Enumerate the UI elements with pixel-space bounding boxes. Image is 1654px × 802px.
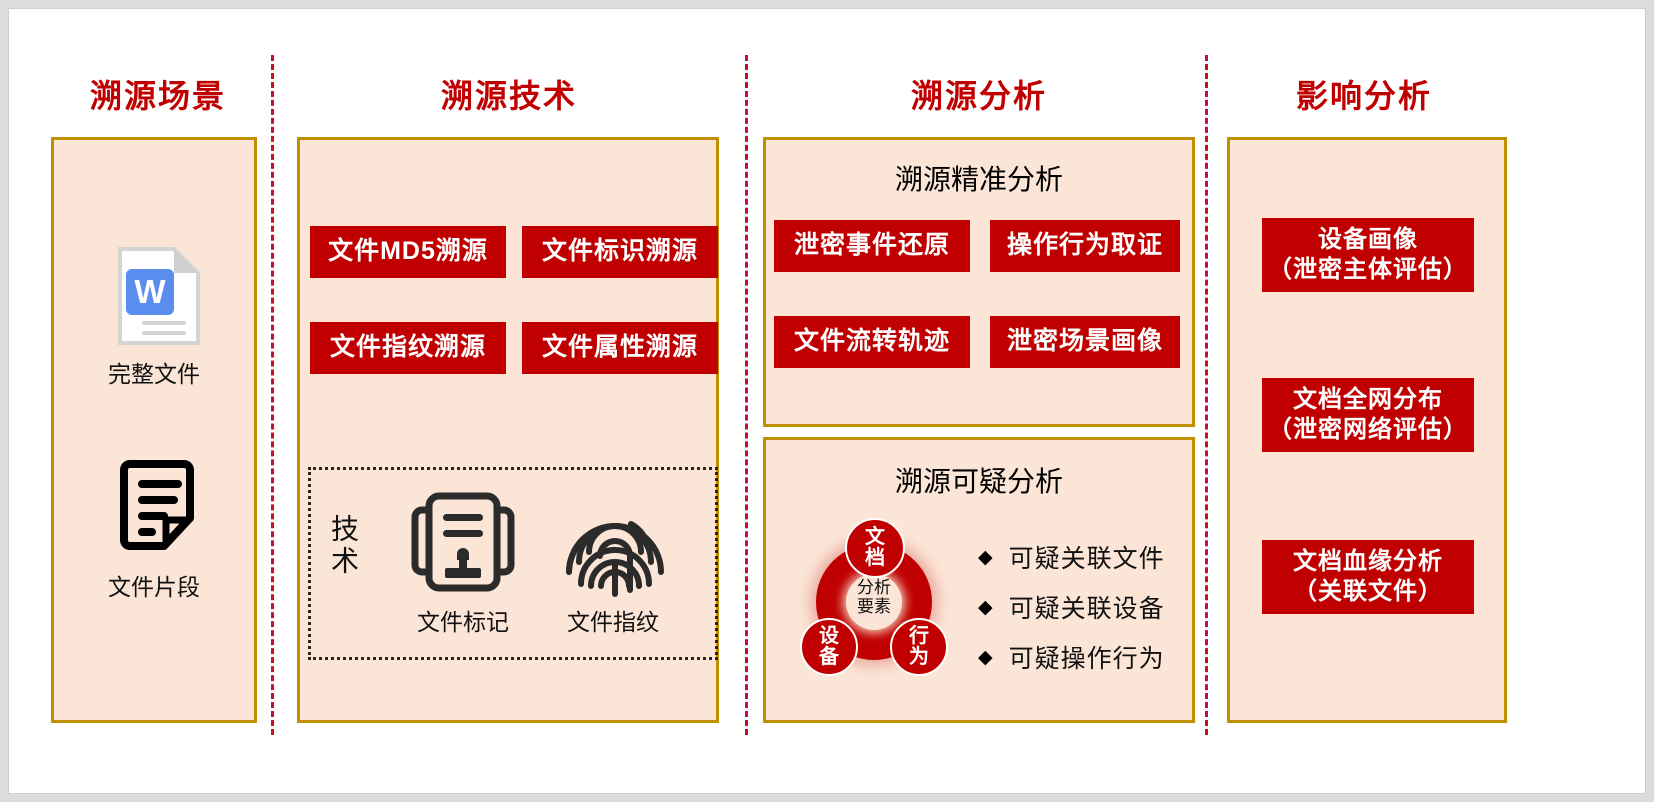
list-item: ◆ 可疑操作行为 [978,638,1165,676]
donut-center-label: 分析 要素 [846,578,902,616]
donut-node-behavior: 行 为 [890,618,948,676]
analysis-elements-donut: 分析 要素 文 档 设 备 行 为 [794,522,954,682]
separator-1 [271,55,274,735]
suspicious-bullet-0: 可疑关联文件 [1009,539,1165,575]
tech-chip-0[interactable]: 文件MD5溯源 [310,226,506,278]
precise-chip-2[interactable]: 文件流转轨迹 [774,316,970,368]
scene-item-label-0: 完整文件 [54,355,254,389]
list-item: ◆ 可疑关联文件 [978,538,1165,576]
fingerprint-icon [559,486,671,603]
svg-text:W: W [134,273,166,310]
separator-2 [745,55,748,735]
document-fragment-icon [116,460,198,557]
column-title-technology: 溯源技术 [299,71,719,117]
precise-chip-3[interactable]: 泄密场景画像 [990,316,1180,368]
impact-chip-1[interactable]: 文档全网分布 （泄密网络评估） [1262,378,1474,452]
separator-3 [1205,55,1208,735]
diagram-canvas: 溯源场景 溯源技术 溯源分析 影响分析 W 完整文件 [8,8,1646,794]
panel-suspicious-analysis: 溯源可疑分析 分析 要素 文 档 设 备 行 为 ◆ 可疑关联文件 ◆ 可疑关联… [763,437,1195,723]
list-item: ◆ 可疑关联设备 [978,588,1165,626]
panel-impact: 设备画像 （泄密主体评估） 文档全网分布 （泄密网络评估） 文档血缘分析 （关联… [1227,137,1507,723]
panel-scene: W 完整文件 文件片段 [51,137,257,723]
technology-dotted-box: 技术 [308,467,718,660]
column-title-analysis: 溯源分析 [764,71,1194,117]
word-document-icon: W [112,245,204,354]
column-title-impact: 影响分析 [1229,71,1499,117]
precise-chip-0[interactable]: 泄密事件还原 [774,220,970,272]
impact-chip-2[interactable]: 文档血缘分析 （关联文件） [1262,540,1474,614]
precise-analysis-heading: 溯源精准分析 [766,158,1192,198]
tech-chip-1[interactable]: 文件标识溯源 [522,226,718,278]
impact-chip-0[interactable]: 设备画像 （泄密主体评估） [1262,218,1474,292]
suspicious-bullet-1: 可疑关联设备 [1009,589,1165,625]
tech-chip-3[interactable]: 文件属性溯源 [522,322,718,374]
diamond-bullet-icon: ◆ [978,648,993,667]
precise-chip-1[interactable]: 操作行为取证 [990,220,1180,272]
scene-item-label-1: 文件片段 [54,568,254,602]
panel-technology: 文件MD5溯源 文件标识溯源 文件指纹溯源 文件属性溯源 技术 [297,137,719,723]
donut-node-device: 设 备 [800,618,858,676]
technology-item-label-0: 文件标记 [393,603,533,637]
panel-precise-analysis: 溯源精准分析 泄密事件还原 操作行为取证 文件流转轨迹 泄密场景画像 [763,137,1195,427]
diamond-bullet-icon: ◆ [978,548,993,567]
suspicious-analysis-heading: 溯源可疑分析 [766,460,1192,500]
document-stamp-icon [409,488,517,603]
tech-chip-2[interactable]: 文件指纹溯源 [310,322,506,374]
suspicious-bullet-list: ◆ 可疑关联文件 ◆ 可疑关联设备 ◆ 可疑操作行为 [978,538,1165,688]
diamond-bullet-icon: ◆ [978,598,993,617]
suspicious-bullet-2: 可疑操作行为 [1009,639,1165,675]
technology-side-label: 技术 [329,514,357,578]
column-title-scene: 溯源场景 [53,71,263,117]
technology-item-label-1: 文件指纹 [543,603,683,637]
donut-node-document: 文 档 [845,518,905,578]
